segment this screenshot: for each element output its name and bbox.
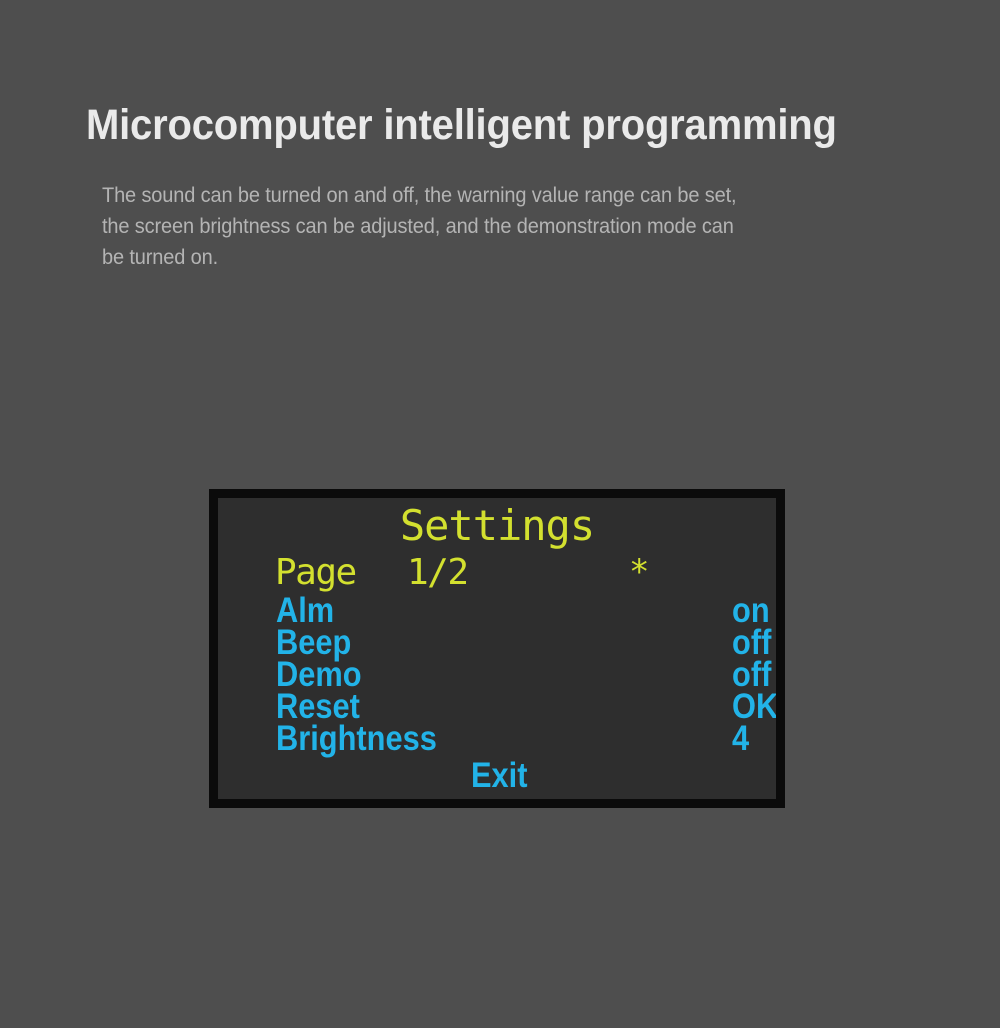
menu-item-value[interactable]: off: [732, 628, 771, 657]
menu-item-label: Brightness: [276, 724, 437, 753]
page-indicator-label: Page: [275, 555, 356, 591]
menu-item-value[interactable]: OK: [732, 692, 776, 721]
menu-item-value[interactable]: on: [732, 596, 770, 625]
selection-cursor-icon: *: [629, 555, 649, 589]
menu-item-label: Beep: [276, 628, 351, 657]
settings-menu-list: Alm on Beep off Demo off Reset OK Bright…: [218, 596, 776, 756]
page-subtitle: The sound can be turned on and off, the …: [102, 180, 846, 273]
subtitle-line-2: the screen brightness can be adjusted, a…: [102, 211, 846, 242]
menu-item-label: Alm: [276, 596, 334, 625]
menu-item-label: Reset: [276, 692, 360, 721]
subtitle-line-3: be turned on.: [102, 242, 846, 273]
page-indicator-value[interactable]: 1/2: [407, 555, 468, 591]
menu-item-label: Demo: [276, 660, 362, 689]
exit-button[interactable]: Exit: [471, 761, 527, 790]
screen-title: Settings: [218, 505, 776, 547]
menu-item-value[interactable]: 4: [732, 724, 749, 753]
lcd-screen: Settings Page 1/2 * Alm on Beep off Demo…: [218, 498, 776, 799]
menu-item-brightness[interactable]: Brightness 4: [218, 724, 776, 756]
page-title: Microcomputer intelligent programming: [86, 104, 837, 147]
device-bezel: Settings Page 1/2 * Alm on Beep off Demo…: [209, 489, 785, 808]
menu-item-value[interactable]: off: [732, 660, 771, 689]
subtitle-line-1: The sound can be turned on and off, the …: [102, 180, 846, 211]
